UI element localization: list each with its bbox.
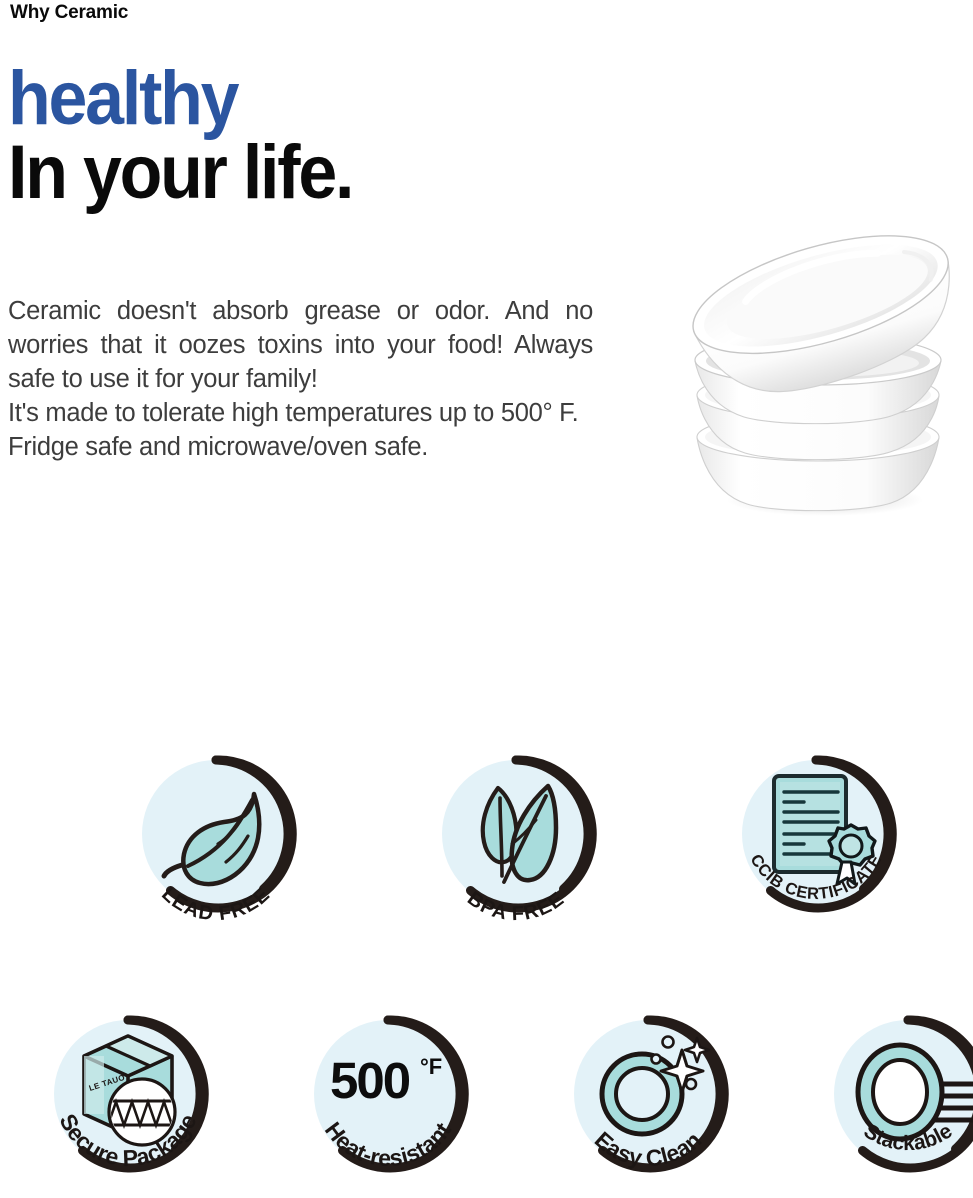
body-paragraph-2: It's made to tolerate high temperatures … bbox=[8, 397, 593, 465]
badge-heat-resistant[interactable]: 500 °F Heat-resistant bbox=[298, 1002, 478, 1198]
badge-easy-clean[interactable]: Easy Clean bbox=[558, 1002, 738, 1198]
badge-bpa-free[interactable]: BPA FREE bbox=[426, 742, 606, 938]
headline-dark-line: In your life. bbox=[8, 136, 578, 210]
badge-secure-package[interactable]: LE TAUO Secure Package bbox=[38, 1002, 218, 1198]
badge-row-bottom: LE TAUO Secure Package 500 bbox=[0, 1002, 973, 1198]
temperature-unit: °F bbox=[420, 1054, 442, 1079]
badge-lead-free[interactable]: LEAD FREE bbox=[126, 742, 306, 938]
product-photo bbox=[655, 232, 973, 522]
badge-stackable[interactable]: Stackable bbox=[818, 1002, 973, 1198]
headline-accent-line: healthy bbox=[8, 62, 578, 136]
body-paragraph-1: Ceramic doesn't absorb grease or odor. A… bbox=[8, 295, 593, 397]
page-eyebrow: Why Ceramic bbox=[10, 2, 128, 24]
badge-row-top: LEAD FREE BPA FREE bbox=[0, 742, 973, 938]
body-copy: Ceramic doesn't absorb grease or odor. A… bbox=[8, 295, 593, 465]
page-title: healthy In your life. bbox=[8, 62, 628, 211]
badge-ccib-certificate[interactable]: CCIB CERTIFICATE bbox=[726, 742, 906, 938]
temperature-value: 500 bbox=[330, 1052, 410, 1109]
